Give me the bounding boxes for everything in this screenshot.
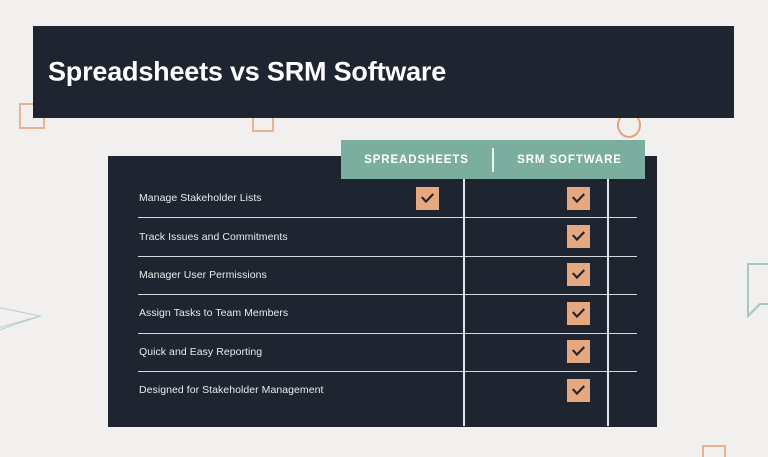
check-icon xyxy=(416,187,439,210)
column-header-srm-software: SRM SOFTWARE xyxy=(494,154,645,166)
cell-spreadsheets xyxy=(355,340,499,363)
table-row: Designed for Stakeholder Management xyxy=(108,371,657,409)
slide-canvas: Spreadsheets vs SRM Software Manage Stak… xyxy=(0,0,768,457)
empty-marker xyxy=(416,340,439,363)
table-row: Assign Tasks to Team Members xyxy=(108,294,657,332)
feature-label: Manage Stakeholder Lists xyxy=(108,192,355,204)
feature-label: Track Issues and Commitments xyxy=(108,231,355,243)
check-icon xyxy=(567,187,590,210)
empty-marker xyxy=(416,225,439,248)
comparison-table: Manage Stakeholder Lists Track Issues an… xyxy=(108,156,657,427)
column-divider-2 xyxy=(607,178,609,426)
column-divider-1 xyxy=(463,178,465,426)
feature-label: Quick and Easy Reporting xyxy=(108,346,355,358)
cell-srm-software xyxy=(499,302,657,325)
table-row: Manager User Permissions xyxy=(108,256,657,294)
cell-srm-software xyxy=(499,379,657,402)
empty-marker xyxy=(416,263,439,286)
cell-srm-software xyxy=(499,225,657,248)
header-divider xyxy=(492,148,494,172)
check-icon xyxy=(567,340,590,363)
column-header-spreadsheets: SPREADSHEETS xyxy=(341,154,492,166)
title-banner: Spreadsheets vs SRM Software xyxy=(33,26,734,118)
table-rows: Manage Stakeholder Lists Track Issues an… xyxy=(108,179,657,409)
table-row: Manage Stakeholder Lists xyxy=(108,179,657,217)
feature-label: Assign Tasks to Team Members xyxy=(108,307,355,319)
table-row: Quick and Easy Reporting xyxy=(108,333,657,371)
check-icon xyxy=(567,263,590,286)
cell-spreadsheets xyxy=(355,225,499,248)
feature-label: Designed for Stakeholder Management xyxy=(108,384,355,396)
clipped-box-icon xyxy=(746,262,768,324)
empty-marker xyxy=(416,302,439,325)
cell-spreadsheets xyxy=(355,379,499,402)
cell-srm-software xyxy=(499,263,657,286)
cell-srm-software xyxy=(499,340,657,363)
feature-label: Manager User Permissions xyxy=(108,269,355,281)
cell-spreadsheets xyxy=(355,302,499,325)
check-icon xyxy=(567,302,590,325)
empty-marker xyxy=(416,379,439,402)
cell-srm-software xyxy=(499,187,657,210)
page-title: Spreadsheets vs SRM Software xyxy=(48,57,446,88)
check-icon xyxy=(567,225,590,248)
table-row: Track Issues and Commitments xyxy=(108,217,657,255)
square-bottom-right-icon xyxy=(702,445,726,457)
table-header-bar: SPREADSHEETS SRM SOFTWARE xyxy=(341,140,645,179)
paper-plane-icon xyxy=(0,288,64,346)
check-icon xyxy=(567,379,590,402)
cell-spreadsheets xyxy=(355,187,499,210)
cell-spreadsheets xyxy=(355,263,499,286)
